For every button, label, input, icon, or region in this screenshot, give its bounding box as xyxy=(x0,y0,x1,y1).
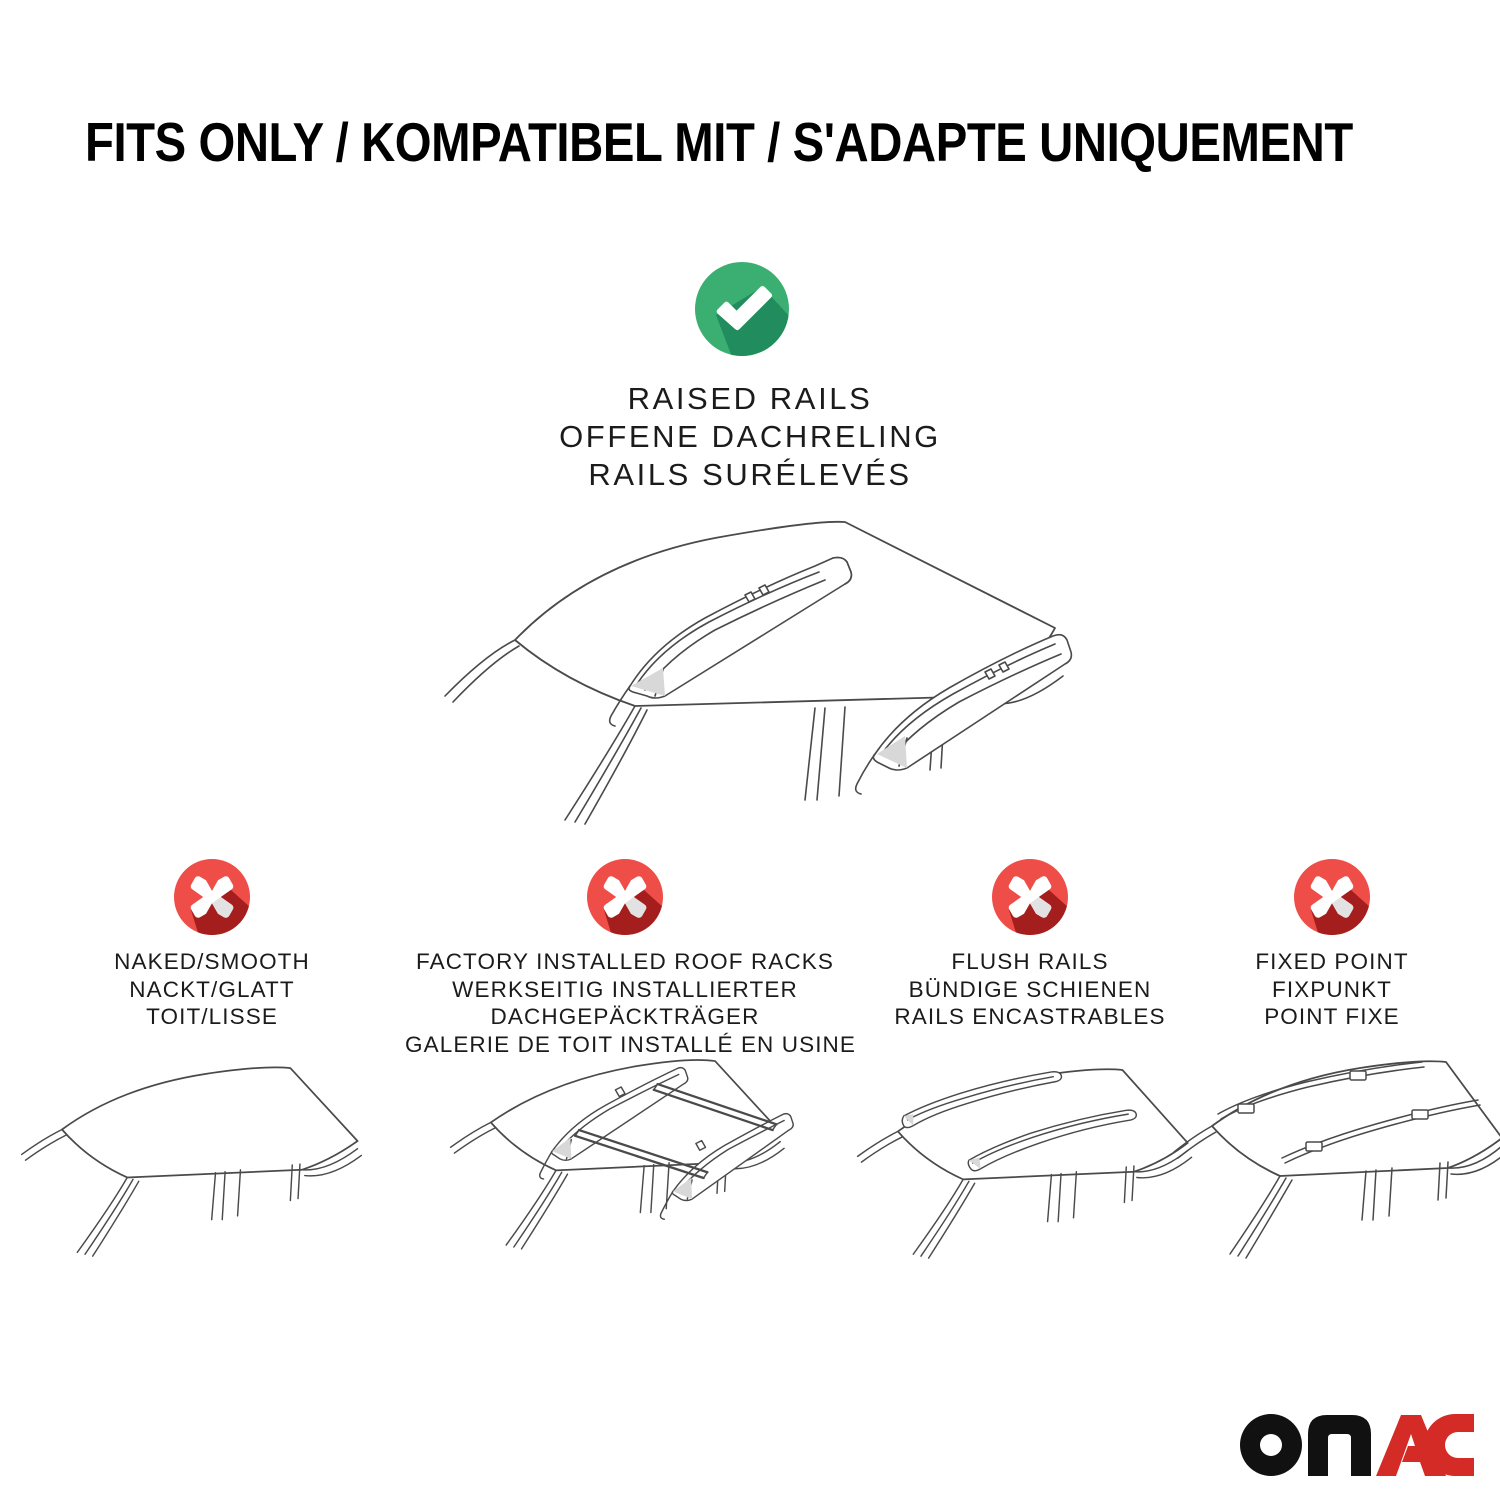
x-circle-icon xyxy=(991,858,1069,936)
omac-logo xyxy=(1238,1412,1474,1478)
x-circle-icon xyxy=(586,858,664,936)
primary-label-line-3: RAILS SURÉLEVÉS xyxy=(0,456,1500,494)
x-circle-icon xyxy=(173,858,251,936)
primary-label-line-1: RAISED RAILS xyxy=(0,380,1500,418)
label-line-2: FIXPUNKT xyxy=(1112,976,1500,1004)
car-roof-factory-roof-rack-illustration xyxy=(435,1040,815,1270)
label-line-3: POINT FIXE xyxy=(1112,1003,1500,1031)
label-line-2: WERKSEITIG INSTALLIERTER xyxy=(405,976,845,1004)
label-group: NAKED/SMOOTH NACKT/GLATT TOIT/LISSE xyxy=(0,948,432,1031)
page-title: FITS ONLY / KOMPATIBEL MIT / S'ADAPTE UN… xyxy=(85,112,1353,172)
label-line-3: TOIT/LISSE xyxy=(0,1003,432,1031)
label-line-1: FIXED POINT xyxy=(1112,948,1500,976)
label-line-1: NAKED/SMOOTH xyxy=(0,948,432,976)
icon-container xyxy=(1112,850,1500,946)
incompatible-item-fixed-point: FIXED POINT FIXPUNKT POINT FIXE xyxy=(1112,850,1500,1031)
car-roof-fixed-point-illustration xyxy=(1156,1050,1500,1280)
check-circle-icon xyxy=(694,261,790,357)
label-line-1: FACTORY INSTALLED ROOF RACKS xyxy=(405,948,845,976)
primary-label-line-2: OFFENE DACHRELING xyxy=(0,418,1500,456)
x-circle-icon xyxy=(1293,858,1371,936)
primary-compatibility-labels: RAISED RAILS OFFENE DACHRELING RAILS SUR… xyxy=(0,380,1500,494)
incompatible-item-naked-smooth: NAKED/SMOOTH NACKT/GLATT TOIT/LISSE xyxy=(0,850,432,1031)
icon-container xyxy=(405,850,845,946)
label-line-3: DACHGEPÄCKTRÄGER xyxy=(405,1003,845,1031)
icon-container xyxy=(0,850,432,946)
car-roof-raised-rails-illustration xyxy=(415,500,1095,830)
label-group: FIXED POINT FIXPUNKT POINT FIXE xyxy=(1112,948,1500,1031)
incompatible-item-factory-roof-rack: FACTORY INSTALLED ROOF RACKS WERKSEITIG … xyxy=(405,850,845,1058)
label-line-2: NACKT/GLATT xyxy=(0,976,432,1004)
car-roof-naked-smooth-illustration xyxy=(14,1050,394,1280)
